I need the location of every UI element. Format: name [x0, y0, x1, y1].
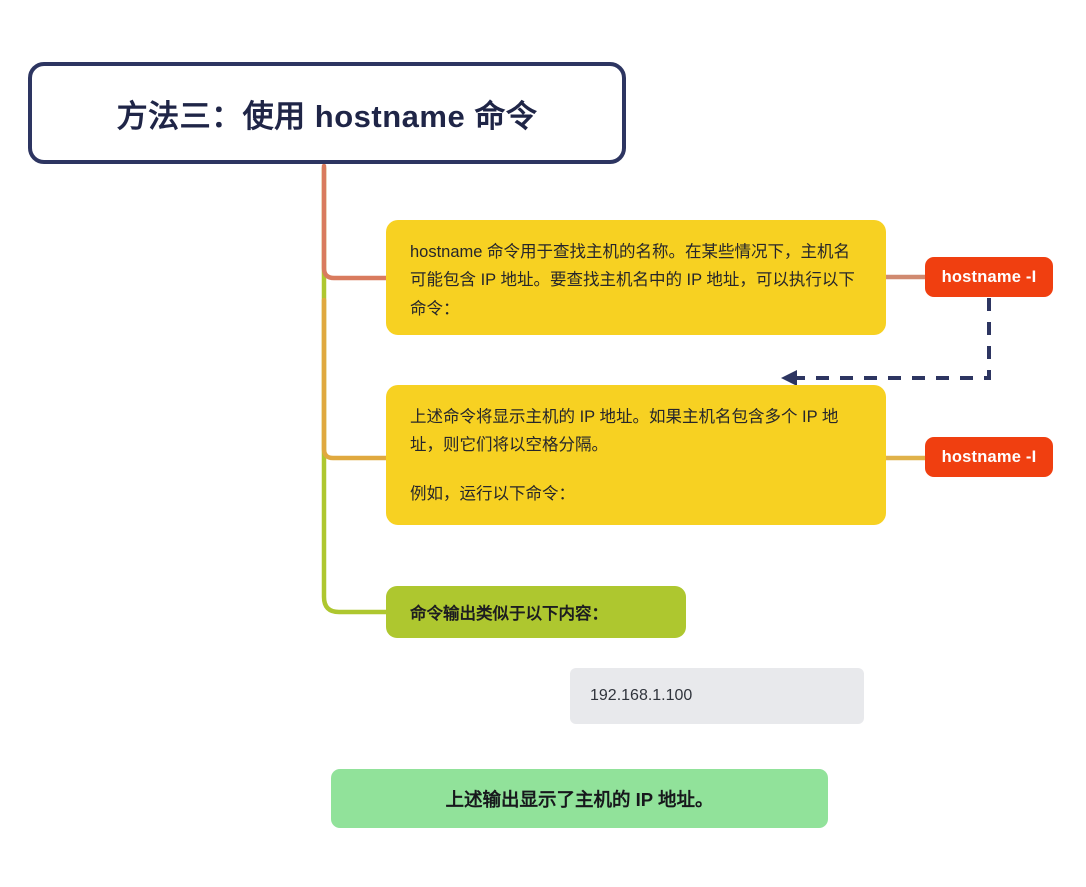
- node-intro-text: hostname 命令用于查找主机的名称。在某些情况下，主机名可能包含 IP 地…: [410, 238, 864, 323]
- diagram-title-node: 方法三：使用 hostname 命令: [28, 62, 626, 164]
- node-output-label-text: 命令输出类似于以下内容：: [410, 600, 608, 624]
- page-title: 方法三：使用 hostname 命令: [117, 91, 538, 136]
- node-output-value: 192.168.1.100: [570, 668, 864, 724]
- node-intro: hostname 命令用于查找主机的名称。在某些情况下，主机名可能包含 IP 地…: [386, 220, 886, 335]
- node-detail-text-1: 上述命令将显示主机的 IP 地址。如果主机名包含多个 IP 地址，则它们将以空格…: [410, 403, 864, 460]
- ip-address-value: 192.168.1.100: [590, 687, 692, 705]
- connector-spine-olive: [324, 168, 386, 612]
- node-conclusion: 上述输出显示了主机的 IP 地址。: [331, 769, 828, 828]
- command-chip-label: hostname -I: [942, 448, 1037, 467]
- node-output-label: 命令输出类似于以下内容：: [386, 586, 686, 638]
- command-chip-hostname-1[interactable]: hostname -I: [925, 257, 1053, 297]
- arrowhead-icon: [781, 370, 797, 386]
- diagram-canvas: 方法三：使用 hostname 命令 hostname 命令用于查找主机的名称。…: [0, 0, 1086, 887]
- connector-branch-coral: [324, 166, 386, 278]
- node-detail: 上述命令将显示主机的 IP 地址。如果主机名包含多个 IP 地址，则它们将以空格…: [386, 385, 886, 525]
- connector-branch-amber: [324, 300, 386, 458]
- node-detail-text-2: 例如，运行以下命令：: [410, 480, 864, 508]
- command-chip-hostname-2[interactable]: hostname -I: [925, 437, 1053, 477]
- command-chip-label: hostname -I: [942, 268, 1037, 287]
- node-conclusion-text: 上述输出显示了主机的 IP 地址。: [446, 786, 714, 812]
